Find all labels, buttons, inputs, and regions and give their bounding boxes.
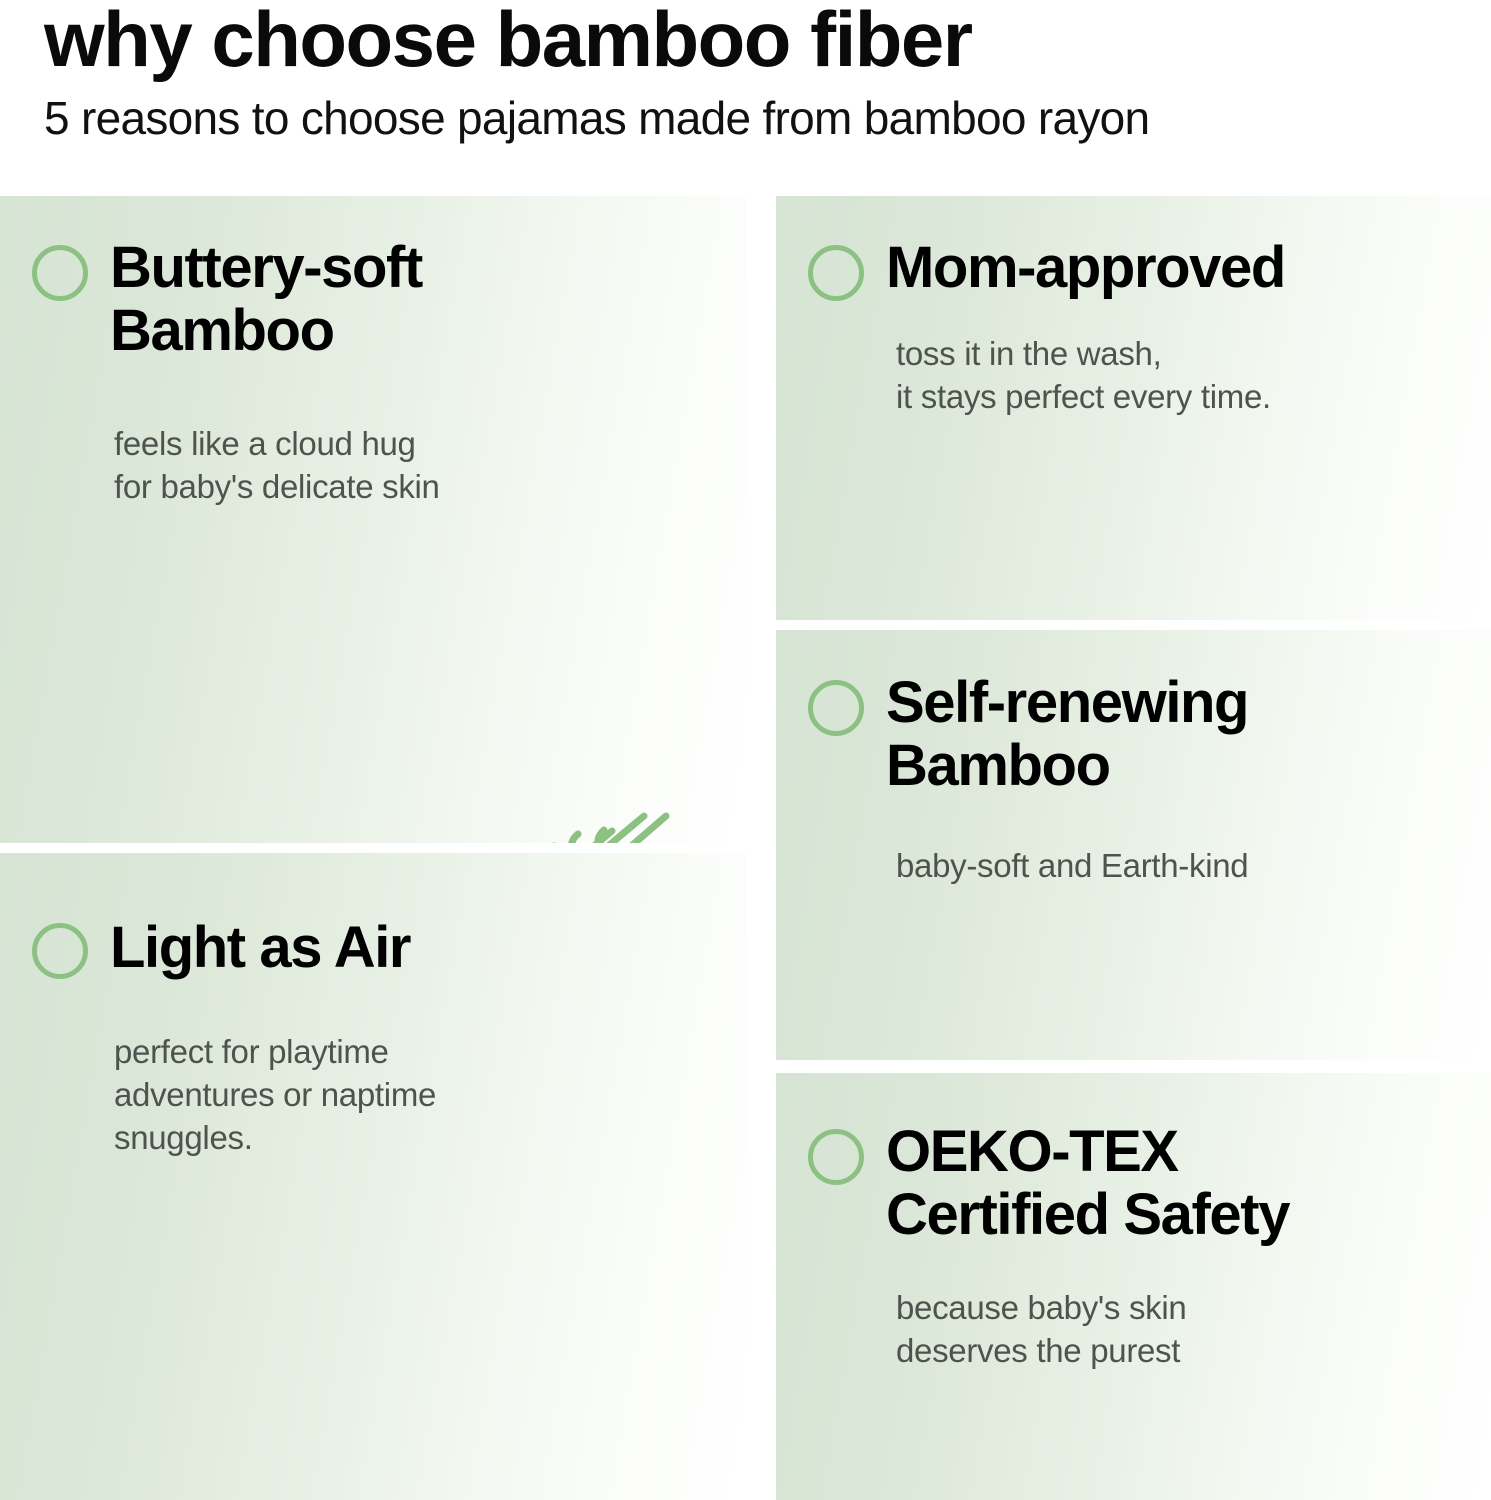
bullet-circle-icon: [32, 923, 88, 979]
card-body-text: baby-soft and Earth-kind: [896, 845, 1248, 888]
card-title: Mom-approved: [886, 237, 1285, 300]
card-title: OEKO-TEX Certified Safety: [886, 1121, 1289, 1246]
bullet-circle-icon: [808, 680, 864, 736]
card-header: Mom-approved: [808, 237, 1285, 301]
feature-card-self-renewing: Self-renewing Bamboo baby-soft and Earth…: [776, 630, 1491, 1060]
bullet-circle-icon: [808, 245, 864, 301]
page-subtitle: 5 reasons to choose pajamas made from ba…: [44, 92, 1464, 145]
bullet-circle-icon: [808, 1129, 864, 1185]
page-title: why choose bamboo fiber: [44, 0, 1464, 80]
card-header: Light as Air: [32, 917, 410, 980]
feature-card-buttery-soft: Buttery-soft Bamboo feels like a cloud h…: [0, 196, 746, 843]
card-body-text: because baby's skin deserves the purest: [896, 1287, 1186, 1373]
infographic-page: why choose bamboo fiber 5 reasons to cho…: [0, 0, 1491, 1500]
card-body-text: perfect for playtime adventures or napti…: [114, 1031, 436, 1160]
feature-card-light-as-air: Light as Air perfect for playtime advent…: [0, 853, 746, 1500]
feature-card-mom-approved: Mom-approved toss it in the wash, it sta…: [776, 196, 1491, 620]
card-header: Buttery-soft Bamboo: [32, 237, 422, 362]
card-header: OEKO-TEX Certified Safety: [808, 1121, 1289, 1246]
header: why choose bamboo fiber 5 reasons to cho…: [44, 0, 1464, 144]
bullet-circle-icon: [32, 245, 88, 301]
card-title: Light as Air: [110, 917, 410, 980]
feature-card-oeko-tex: OEKO-TEX Certified Safety because baby's…: [776, 1073, 1491, 1500]
card-body-text: toss it in the wash, it stays perfect ev…: [896, 333, 1271, 419]
card-header: Self-renewing Bamboo: [808, 672, 1248, 797]
card-body-text: feels like a cloud hug for baby's delica…: [114, 423, 440, 509]
hand-soft-touch-icon: [494, 794, 724, 843]
card-title: Buttery-soft Bamboo: [110, 237, 422, 362]
card-title: Self-renewing Bamboo: [886, 672, 1248, 797]
